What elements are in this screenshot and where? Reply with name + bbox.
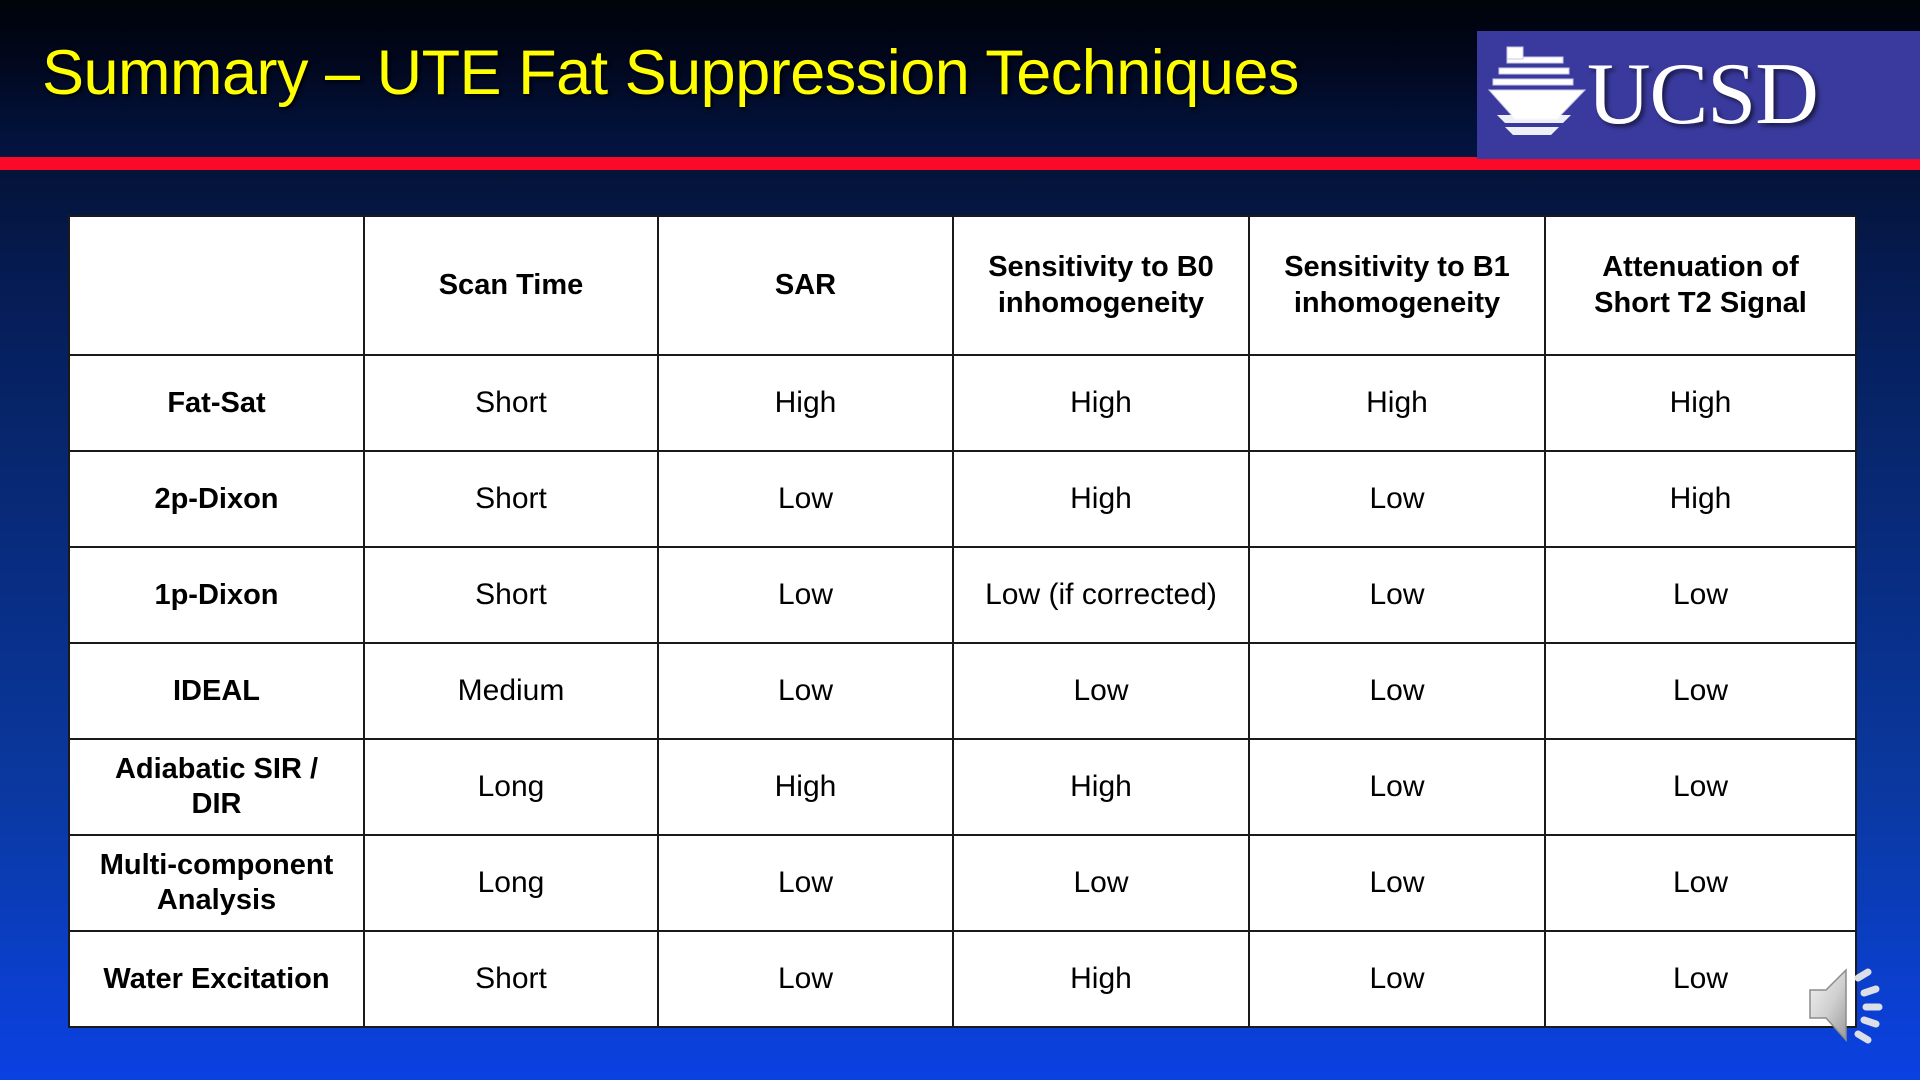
column-header-sar: SAR bbox=[658, 216, 953, 355]
table-cell-value: Low bbox=[658, 451, 953, 547]
row-label-technique: Fat-Sat bbox=[69, 355, 364, 451]
table-cell-value: Low bbox=[1249, 931, 1545, 1027]
table-cell-value: High bbox=[658, 739, 953, 835]
table-row: IDEALMediumLowLowLowLow bbox=[69, 643, 1856, 739]
ucsd-wordmark: UCSD bbox=[1587, 51, 1818, 139]
table-cell-value: High bbox=[953, 931, 1249, 1027]
table-cell-value: Low bbox=[1249, 835, 1545, 931]
table-header: Scan Time SAR Sensitivity to B0inhomogen… bbox=[69, 216, 1856, 355]
table-cell-value: High bbox=[1249, 355, 1545, 451]
page-title: Summary – UTE Fat Suppression Techniques bbox=[42, 40, 1602, 106]
table-row: Adiabatic SIR /DIRLongHighHighLowLow bbox=[69, 739, 1856, 835]
table-row: 1p-DixonShortLowLow (if corrected)LowLow bbox=[69, 547, 1856, 643]
row-label-technique: Water Excitation bbox=[69, 931, 364, 1027]
table-cell-value: Low bbox=[658, 931, 953, 1027]
table-cell-value: High bbox=[658, 355, 953, 451]
table-cell-value: Low bbox=[1545, 739, 1856, 835]
table-cell-value: Low bbox=[1249, 739, 1545, 835]
table-cell-value: High bbox=[953, 451, 1249, 547]
table-cell-value: Short bbox=[364, 451, 658, 547]
table-cell-value: Low bbox=[953, 835, 1249, 931]
ucsd-trident-mark bbox=[1485, 45, 1593, 145]
row-label-technique: Adiabatic SIR /DIR bbox=[69, 739, 364, 835]
table-cell-value: Low bbox=[1545, 547, 1856, 643]
table-row: 2p-DixonShortLowHighLowHigh bbox=[69, 451, 1856, 547]
row-label-technique: Multi-componentAnalysis bbox=[69, 835, 364, 931]
table-cell-value: High bbox=[1545, 355, 1856, 451]
table-row: Water ExcitationShortLowHighLowLow bbox=[69, 931, 1856, 1027]
table-row: Multi-componentAnalysisLongLowLowLowLow bbox=[69, 835, 1856, 931]
table-cell-value: Low (if corrected) bbox=[953, 547, 1249, 643]
table-cell-value: Low bbox=[953, 643, 1249, 739]
summary-table: Scan Time SAR Sensitivity to B0inhomogen… bbox=[68, 215, 1857, 1028]
row-label-technique: 1p-Dixon bbox=[69, 547, 364, 643]
ucsd-logo: UCSD bbox=[1477, 31, 1920, 159]
speaker-icon[interactable] bbox=[1806, 962, 1894, 1048]
table-cell-value: Medium bbox=[364, 643, 658, 739]
column-header-short-t2-attenuation: Attenuation ofShort T2 Signal bbox=[1545, 216, 1856, 355]
table-cell-value: High bbox=[1545, 451, 1856, 547]
table-cell-value: Long bbox=[364, 739, 658, 835]
table-cell-value: High bbox=[953, 355, 1249, 451]
row-label-technique: 2p-Dixon bbox=[69, 451, 364, 547]
table-header-row: Scan Time SAR Sensitivity to B0inhomogen… bbox=[69, 216, 1856, 355]
table-cell-value: Low bbox=[1249, 451, 1545, 547]
table-row: Fat-SatShortHighHighHighHigh bbox=[69, 355, 1856, 451]
summary-table-container: Scan Time SAR Sensitivity to B0inhomogen… bbox=[68, 215, 1855, 1028]
column-header-scan-time: Scan Time bbox=[364, 216, 658, 355]
table-cell-value: Short bbox=[364, 355, 658, 451]
presentation-slide: Summary – UTE Fat Suppression Techniques… bbox=[0, 0, 1920, 1080]
column-header-b1-sensitivity: Sensitivity to B1inhomogeneity bbox=[1249, 216, 1545, 355]
table-body: Fat-SatShortHighHighHighHigh2p-DixonShor… bbox=[69, 355, 1856, 1027]
table-cell-value: Low bbox=[658, 643, 953, 739]
table-cell-value: Short bbox=[364, 547, 658, 643]
table-cell-value: Low bbox=[1545, 835, 1856, 931]
table-cell-value: Short bbox=[364, 931, 658, 1027]
column-header-b0-sensitivity: Sensitivity to B0inhomogeneity bbox=[953, 216, 1249, 355]
column-header-technique bbox=[69, 216, 364, 355]
row-label-technique: IDEAL bbox=[69, 643, 364, 739]
table-cell-value: Low bbox=[658, 835, 953, 931]
table-cell-value: Low bbox=[1249, 643, 1545, 739]
table-cell-value: Low bbox=[1545, 643, 1856, 739]
table-cell-value: High bbox=[953, 739, 1249, 835]
table-cell-value: Low bbox=[658, 547, 953, 643]
table-cell-value: Long bbox=[364, 835, 658, 931]
table-cell-value: Low bbox=[1249, 547, 1545, 643]
